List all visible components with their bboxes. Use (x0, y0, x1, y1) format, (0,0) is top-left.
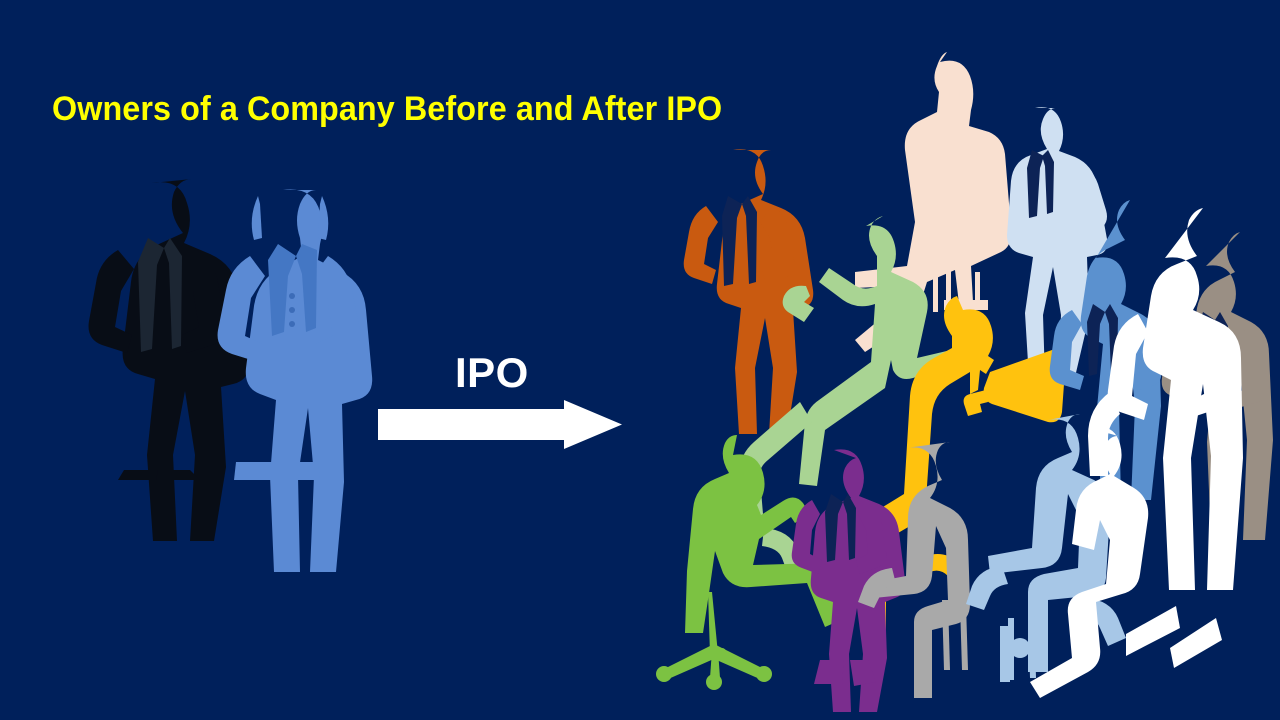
page-title: Owners of a Company Before and After IPO (52, 92, 722, 126)
figure-man-taupe-standing (1162, 232, 1273, 540)
figure-man-lightblue-standing (1007, 107, 1107, 379)
figure-person-skyblue-seated (966, 414, 1126, 682)
figure-person-gray-seated (858, 442, 970, 698)
figure-person-cream-seated (855, 52, 1011, 352)
figure-businesswoman-blue (218, 189, 373, 572)
figure-woman-white-seated (1030, 427, 1148, 698)
slide-canvas: IPO Owners of a Company Before and After… (0, 0, 1280, 720)
figure-man-white-standing (1088, 208, 1243, 668)
ipo-arrow-icon (378, 400, 622, 450)
figure-man-purple-standing (792, 449, 906, 712)
figure-person-gold-with-document (866, 296, 1066, 636)
figure-man-palegreen-seated (718, 216, 955, 574)
figure-man-orange-standing (684, 149, 814, 434)
ipo-label: IPO (455, 352, 529, 394)
figure-businessman-black (89, 179, 249, 541)
figure-man-medblue-seated (1050, 200, 1161, 500)
figure-person-brightgreen-seated (656, 435, 843, 690)
